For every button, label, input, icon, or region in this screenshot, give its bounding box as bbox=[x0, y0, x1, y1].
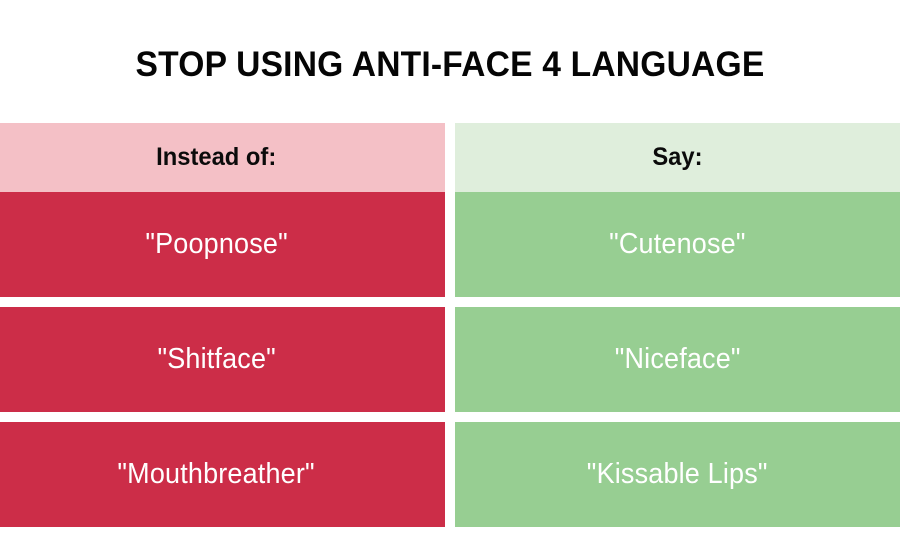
table-header-cell-instead-of: Instead of: bbox=[0, 123, 445, 192]
table-cell-instead-of: "Poopnose" bbox=[0, 192, 445, 297]
table-header-label-say: Say: bbox=[652, 143, 702, 172]
page-title: STOP USING ANTI-FACE 4 LANGUAGE bbox=[18, 44, 882, 86]
table-cell-text-say: "Kissable Lips" bbox=[587, 458, 768, 491]
table-cell-say: "Niceface" bbox=[455, 307, 900, 412]
table-cell-text-instead-of: "Mouthbreather" bbox=[118, 458, 315, 491]
infographic-canvas: STOP USING ANTI-FACE 4 LANGUAGE Instead … bbox=[0, 0, 900, 538]
comparison-table: Instead of: Say: "Poopnose" "Cutenose" "… bbox=[0, 123, 900, 528]
table-row: "Poopnose" "Cutenose" bbox=[0, 192, 900, 297]
table-cell-text-say: "Cutenose" bbox=[609, 228, 745, 261]
table-header-row: Instead of: Say: bbox=[0, 123, 900, 192]
table-cell-say: "Kissable Lips" bbox=[455, 422, 900, 527]
table-cell-instead-of: "Shitface" bbox=[0, 307, 445, 412]
table-row: "Mouthbreather" "Kissable Lips" bbox=[0, 422, 900, 527]
table-cell-say: "Cutenose" bbox=[455, 192, 900, 297]
table-header-cell-say: Say: bbox=[455, 123, 900, 192]
table-cell-text-instead-of: "Shitface" bbox=[157, 343, 275, 376]
table-cell-text-say: "Niceface" bbox=[615, 343, 741, 376]
table-row: "Shitface" "Niceface" bbox=[0, 307, 900, 412]
table-header-label-instead-of: Instead of: bbox=[156, 143, 276, 172]
table-cell-instead-of: "Mouthbreather" bbox=[0, 422, 445, 527]
table-cell-text-instead-of: "Poopnose" bbox=[145, 228, 287, 261]
